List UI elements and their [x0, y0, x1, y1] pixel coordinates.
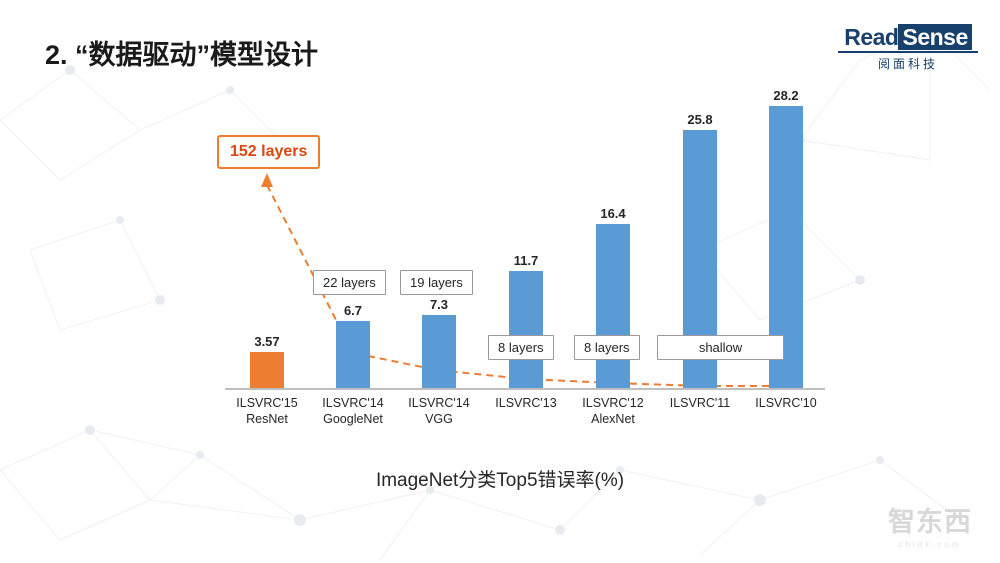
- x-label-1: ILSVRC'14 GoogleNet: [308, 395, 398, 427]
- annotation-8-layers-alexnet: 8 layers: [574, 335, 640, 360]
- bar-group-4[interactable]: 16.4: [578, 206, 648, 388]
- annotation-shallow: shallow: [657, 335, 784, 360]
- watermark-main: 智东西: [888, 500, 972, 539]
- bar-value-0: 3.57: [232, 334, 302, 349]
- watermark-sub: zhidx.com: [888, 540, 972, 549]
- x-label-1-line1: ILSVRC'14: [308, 395, 398, 411]
- bar-4[interactable]: [596, 224, 630, 388]
- logo-sense-text: Sense: [898, 24, 971, 50]
- x-label-0-line1: ILSVRC'15: [222, 395, 312, 411]
- x-label-3: ILSVRC'13: [481, 395, 571, 411]
- bar-value-3: 11.7: [491, 253, 561, 268]
- x-label-2-line2: VGG: [394, 411, 484, 427]
- annotation-19-layers: 19 layers: [400, 270, 473, 295]
- brand-logo: ReadSense 阅面科技: [838, 24, 978, 72]
- annotation-8-layers-ilsvrc13: 8 layers: [488, 335, 554, 360]
- bar-value-2: 7.3: [404, 297, 474, 312]
- x-label-6-line1: ILSVRC'10: [741, 395, 831, 411]
- bar-3[interactable]: [509, 271, 543, 388]
- bar-value-6: 28.2: [751, 88, 821, 103]
- logo-read-text: Read: [844, 24, 898, 50]
- x-label-0: ILSVRC'15 ResNet: [222, 395, 312, 427]
- x-label-4: ILSVRC'12 AlexNet: [568, 395, 658, 427]
- x-axis-labels: ILSVRC'15 ResNet ILSVRC'14 GoogleNet ILS…: [205, 395, 815, 445]
- logo-wordmark: ReadSense: [838, 24, 978, 50]
- bar-chart: 3.57 6.7 7.3 11.7 16.4 25.8: [180, 95, 830, 415]
- bar-value-5: 25.8: [665, 112, 735, 127]
- logo-subtitle: 阅面科技: [838, 55, 978, 72]
- annotation-152-layers: 152 layers: [217, 135, 320, 169]
- chart-caption: ImageNet分类Top5错误率(%): [0, 465, 1000, 492]
- x-label-3-line1: ILSVRC'13: [481, 395, 571, 411]
- annotation-shallow-label: shallow: [699, 340, 742, 355]
- x-label-6: ILSVRC'10: [741, 395, 831, 411]
- bar-1[interactable]: [336, 321, 370, 388]
- bar-group-3[interactable]: 11.7: [491, 253, 561, 388]
- x-label-0-line2: ResNet: [222, 411, 312, 427]
- x-label-2-line1: ILSVRC'14: [394, 395, 484, 411]
- x-label-4-line2: AlexNet: [568, 411, 658, 427]
- annotation-22-layers: 22 layers: [313, 270, 386, 295]
- page-title: 2. “数据驱动”模型设计: [45, 33, 318, 72]
- x-label-1-line2: GoogleNet: [308, 411, 398, 427]
- bar-group-1[interactable]: 6.7: [318, 303, 388, 388]
- bar-group-2[interactable]: 7.3: [404, 297, 474, 388]
- bar-group-0[interactable]: 3.57: [232, 334, 302, 388]
- bar-value-1: 6.7: [318, 303, 388, 318]
- x-axis-line: [225, 388, 825, 390]
- bar-2[interactable]: [422, 315, 456, 388]
- bar-value-4: 16.4: [578, 206, 648, 221]
- x-label-4-line1: ILSVRC'12: [568, 395, 658, 411]
- x-label-5-line1: ILSVRC'11: [655, 395, 745, 411]
- watermark: 智东西 zhidx.com: [888, 500, 972, 549]
- logo-divider: [838, 51, 978, 53]
- bar-0[interactable]: [250, 352, 284, 388]
- x-label-5: ILSVRC'11: [655, 395, 745, 411]
- chart-plot-area: 3.57 6.7 7.3 11.7 16.4 25.8: [205, 95, 815, 390]
- x-label-2: ILSVRC'14 VGG: [394, 395, 484, 427]
